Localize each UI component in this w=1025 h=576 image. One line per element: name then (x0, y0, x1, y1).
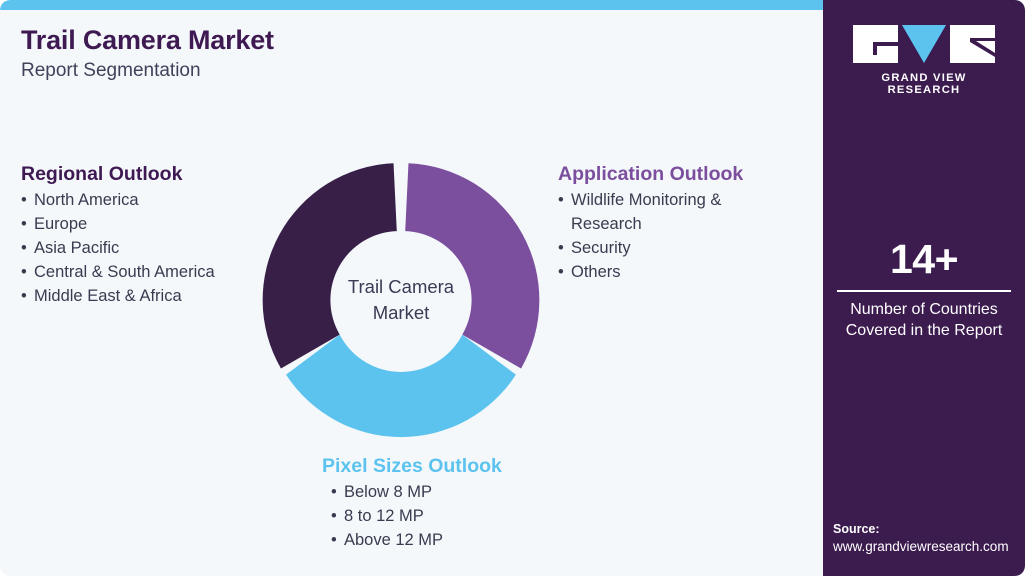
list-item-label: North America (34, 191, 139, 209)
bullet-icon: • (21, 237, 27, 261)
page-subtitle: Report Segmentation (21, 60, 621, 83)
list-item-label: 8 to 12 MP (344, 507, 424, 525)
segment-pixel-list: •Below 8 MP •8 to 12 MP •Above 12 MP (322, 481, 572, 552)
source-label: Source: (833, 521, 1023, 538)
list-item: •Asia Pacific (21, 237, 271, 261)
list-item: •Central & South America (21, 261, 271, 285)
segment-regional-outlook: Regional Outlook •North America •Europe … (21, 162, 271, 308)
header: Trail Camera Market Report Segmentation (21, 24, 621, 83)
gvr-logo-r-icon (950, 25, 995, 63)
source-block: Source: www.grandviewresearch.com (833, 521, 1023, 556)
stat-caption-line2: Covered in the Report (833, 320, 1015, 341)
bullet-icon: • (21, 261, 27, 285)
bullet-icon: • (21, 285, 27, 309)
bullet-icon: • (558, 189, 564, 213)
bullet-icon: • (331, 529, 337, 553)
segmentation-donut-chart: Trail Camera Market (258, 157, 544, 443)
stat-value: 14+ (833, 238, 1015, 281)
bullet-icon: • (21, 189, 27, 213)
bullet-icon: • (558, 237, 564, 261)
bullet-icon: • (21, 213, 27, 237)
donut-svg (258, 157, 544, 443)
infographic-card: Trail Camera Market Report Segmentation … (0, 0, 1025, 576)
list-item: •8 to 12 MP (331, 505, 572, 529)
list-item: •Below 8 MP (331, 481, 572, 505)
segment-application-list: •Wildlife Monitoring & Research •Securit… (558, 189, 788, 284)
list-item: •Security (558, 237, 788, 261)
list-item-label: Central & South America (34, 263, 215, 281)
segment-application-heading: Application Outlook (558, 162, 788, 186)
segment-regional-heading: Regional Outlook (21, 162, 271, 186)
stat-countries: 14+ Number of Countries Covered in the R… (833, 238, 1015, 341)
list-item: •Above 12 MP (331, 529, 572, 553)
page-title: Trail Camera Market (21, 24, 621, 56)
list-item-label: Europe (34, 215, 87, 233)
list-item-label: Below 8 MP (344, 483, 432, 501)
segment-regional-list: •North America •Europe •Asia Pacific •Ce… (21, 189, 271, 308)
list-item-label: Security (571, 239, 631, 257)
stat-caption: Number of Countries Covered in the Repor… (833, 299, 1015, 341)
list-item-label: Asia Pacific (34, 239, 119, 257)
donut-slice-application[interactable] (405, 163, 539, 368)
list-item-label: Wildlife Monitoring & Research (571, 191, 721, 233)
gvr-logo-v-triangle-icon (902, 25, 946, 63)
stat-caption-line1: Number of Countries (833, 299, 1015, 320)
gvr-logo-g-icon (853, 25, 898, 63)
segment-pixel-sizes-outlook: Pixel Sizes Outlook •Below 8 MP •8 to 12… (322, 454, 572, 553)
donut-slice-regional[interactable] (263, 163, 397, 368)
stat-divider (837, 290, 1011, 292)
bullet-icon: • (558, 261, 564, 285)
list-item: •Others (558, 261, 788, 285)
list-item: •North America (21, 189, 271, 213)
list-item: •Wildlife Monitoring & Research (558, 189, 788, 237)
bullet-icon: • (331, 505, 337, 529)
list-item: •Europe (21, 213, 271, 237)
segment-pixel-heading: Pixel Sizes Outlook (322, 454, 572, 478)
list-item-label: Above 12 MP (344, 531, 443, 549)
brand-wordmark: GRAND VIEW RESEARCH (853, 72, 995, 96)
logo-marks (853, 25, 995, 63)
bullet-icon: • (331, 481, 337, 505)
list-item-label: Middle East & Africa (34, 287, 182, 305)
brand-logo: GRAND VIEW RESEARCH (853, 25, 995, 96)
donut-slice-pixel-sizes[interactable] (286, 335, 516, 437)
segment-application-outlook: Application Outlook •Wildlife Monitoring… (558, 162, 788, 285)
list-item: •Middle East & Africa (21, 285, 271, 309)
source-url[interactable]: www.grandviewresearch.com (833, 538, 1023, 556)
list-item-label: Others (571, 263, 621, 281)
